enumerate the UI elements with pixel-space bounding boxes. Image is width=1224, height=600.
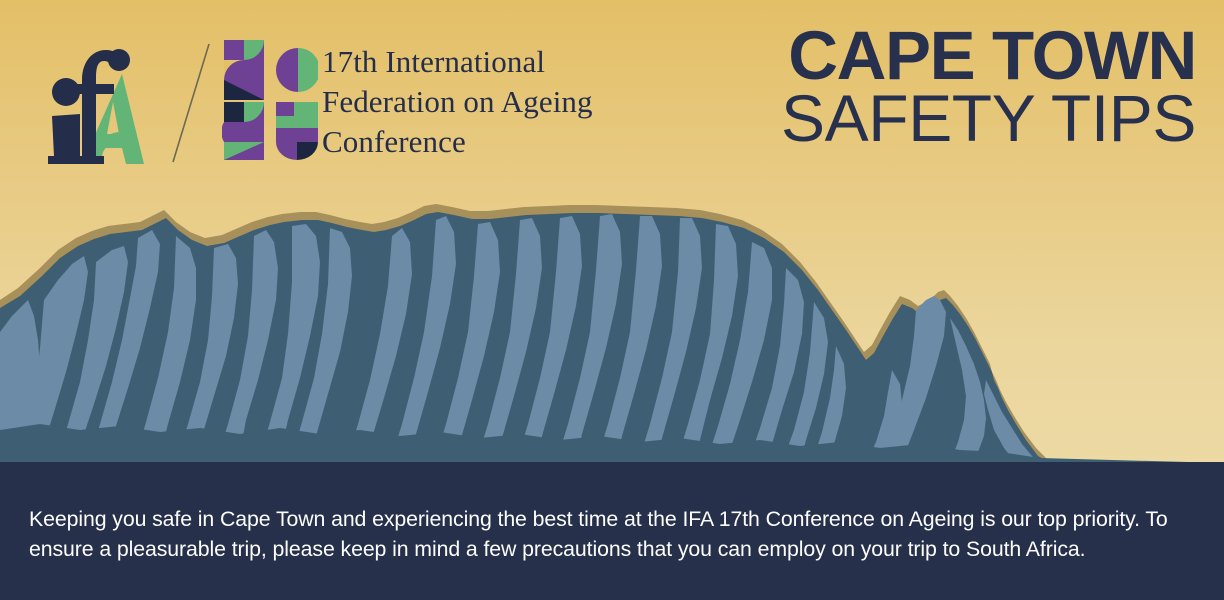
caption-text: Keeping you safe in Cape Town and experi… (29, 505, 1201, 564)
page-title: CAPE TOWN SAFETY TIPS (781, 22, 1196, 150)
conference-name-line-1: 17th International (322, 42, 702, 82)
page-title-sub: SAFETY TIPS (781, 86, 1196, 151)
page-title-main: CAPE TOWN (781, 22, 1196, 90)
conference-name-line-3: Conference (322, 122, 702, 162)
conference-name: 17th International Federation on Ageing … (322, 42, 702, 162)
cape-town-safety-tips-banner: 17th International Federation on Ageing … (0, 0, 1224, 600)
ifa-logo-f-ball-terminal (108, 49, 130, 71)
caption-bar: Keeping you safe in Cape Town and experi… (0, 462, 1224, 600)
slash-divider (168, 40, 214, 166)
badge-digit-0-top (276, 48, 318, 92)
conference-name-line-2: Federation on Ageing (322, 82, 702, 122)
badge-digit-5-bottom (276, 102, 318, 160)
banner-header: 17th International Federation on Ageing … (0, 0, 1224, 190)
badge-digit-2-bottom (222, 102, 264, 160)
badge-digit-2-top (224, 40, 264, 100)
badge-2025 (222, 38, 318, 162)
ifa-logo (44, 36, 184, 166)
